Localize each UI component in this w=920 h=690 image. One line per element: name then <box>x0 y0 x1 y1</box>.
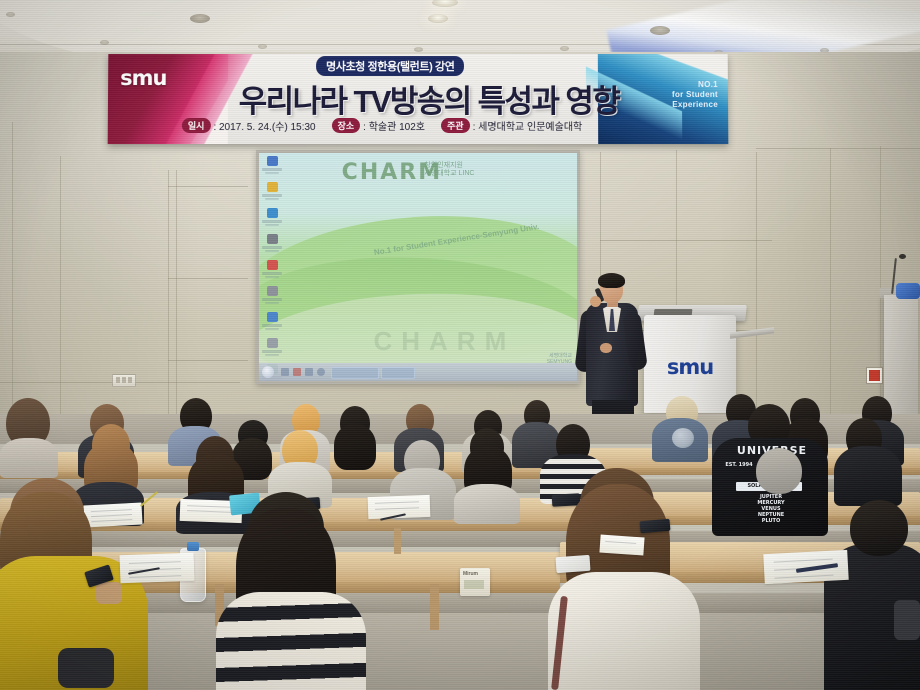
ceiling-downlight <box>100 40 109 45</box>
banner-meta-location: 장소 : 학술관 102호 <box>332 118 425 133</box>
wall-panel-seam <box>756 152 757 422</box>
speaker-hair <box>598 273 625 288</box>
desktop-icon[interactable] <box>262 234 282 256</box>
blue-equipment <box>896 283 920 299</box>
wall-panel-seam <box>600 240 772 241</box>
banner-smu-logo: smu <box>120 66 166 90</box>
lecture-hall-photo: smu 명사초청 정한용(탤런트) 강연 우리나라 TV방송의 특성과 영향 일… <box>0 0 920 690</box>
desktop-icon[interactable] <box>262 208 282 230</box>
windows-taskbar[interactable] <box>259 363 577 381</box>
wall-panel-seam <box>168 278 248 279</box>
taskbar-icon[interactable] <box>281 368 289 376</box>
banner-slogan-corner: NO.1 for Student Experience <box>672 80 718 110</box>
desk-leg <box>430 584 439 630</box>
speaker-gesturing-hand <box>600 343 612 353</box>
audience-arm <box>894 600 920 640</box>
smartphone[interactable] <box>555 555 590 573</box>
banner-subtitle-pill: 명사초청 정한용(탤런트) 강연 <box>316 56 464 76</box>
desktop-icon[interactable] <box>262 286 282 308</box>
jacket-text-est: EST. 1994 <box>722 462 756 468</box>
wall-panel-seam <box>756 148 920 149</box>
desktop-icon[interactable] <box>262 338 282 360</box>
handout-paper <box>83 502 142 527</box>
audience-hair <box>334 424 376 470</box>
banner-title: 우리나라 TV방송의 특성과 영향 <box>194 76 664 121</box>
wall-panel-seam <box>176 170 177 422</box>
projected-desktop: CHARM 창의인재지원 세명대학교 LINC No.1 for Student… <box>259 153 577 381</box>
white-top <box>548 572 700 690</box>
taskbar-icon[interactable] <box>305 368 313 376</box>
ceiling-downlight <box>650 26 670 35</box>
speaker-hand <box>590 296 601 307</box>
charm-subtitle: 창의인재지원 세명대학교 LINC <box>424 162 474 178</box>
desk-leg <box>394 528 401 554</box>
desktop-icon-grid[interactable] <box>261 156 307 381</box>
desktop-icon[interactable] <box>262 156 282 178</box>
banner-meta-datetime: 일시 : 2017. 5. 24.(수) 15:30 <box>182 118 316 133</box>
banner-meta-host: 주관 : 세명대학교 인문예술대학 <box>441 118 582 133</box>
desktop-icon[interactable] <box>262 260 282 282</box>
jacket-planet-list: JUPITER MERCURY VENUS NEPTUNE PLUTO <box>742 494 800 524</box>
start-button-icon[interactable] <box>262 366 274 378</box>
audience-body <box>454 484 520 524</box>
audience-body <box>834 446 902 506</box>
podium-smu-logo: smu <box>644 355 736 379</box>
shirt-graphic <box>672 428 694 448</box>
audience-hood <box>756 448 802 494</box>
audience-body <box>0 438 58 478</box>
handout-paper <box>599 534 644 555</box>
bag <box>58 648 114 688</box>
ceiling-downlight <box>560 46 569 51</box>
wall-panel-seam <box>168 186 248 187</box>
taskbar-icon[interactable] <box>293 368 301 376</box>
event-banner: smu 명사초청 정한용(탤런트) 강연 우리나라 TV방송의 특성과 영향 일… <box>108 54 729 144</box>
ceiling-downlight <box>258 44 267 49</box>
projection-screen: CHARM 창의인재지원 세명대학교 LINC No.1 for Student… <box>256 150 580 384</box>
banner-meta-row: 일시 : 2017. 5. 24.(수) 15:30 장소 : 학술관 102호… <box>182 118 702 133</box>
secondary-podium <box>884 295 918 415</box>
charm-watermark: CHARM <box>373 326 515 357</box>
wall-panel-seam <box>830 148 831 422</box>
desktop-icon[interactable] <box>262 182 282 204</box>
wall-panel-seam <box>12 122 13 422</box>
taskbar-window-button[interactable] <box>381 367 415 379</box>
desktop-icon[interactable] <box>262 312 282 334</box>
microphone-icon <box>899 254 906 259</box>
ceiling-downlight <box>190 14 210 23</box>
ceiling-downlight <box>428 14 448 23</box>
emergency-sign-icon <box>866 367 883 384</box>
audience-head <box>850 500 908 556</box>
ceiling-downlight <box>6 12 15 17</box>
wall-panel-seam <box>168 360 248 361</box>
taskbar-icon[interactable] <box>317 368 325 376</box>
tissue-box: Mirum <box>460 568 490 596</box>
striped-top <box>216 592 366 690</box>
taskbar-window-button[interactable] <box>331 367 379 379</box>
wall-panel-seam <box>168 170 169 422</box>
audience-hand <box>96 582 122 604</box>
wall-outlet-plate <box>112 374 136 387</box>
